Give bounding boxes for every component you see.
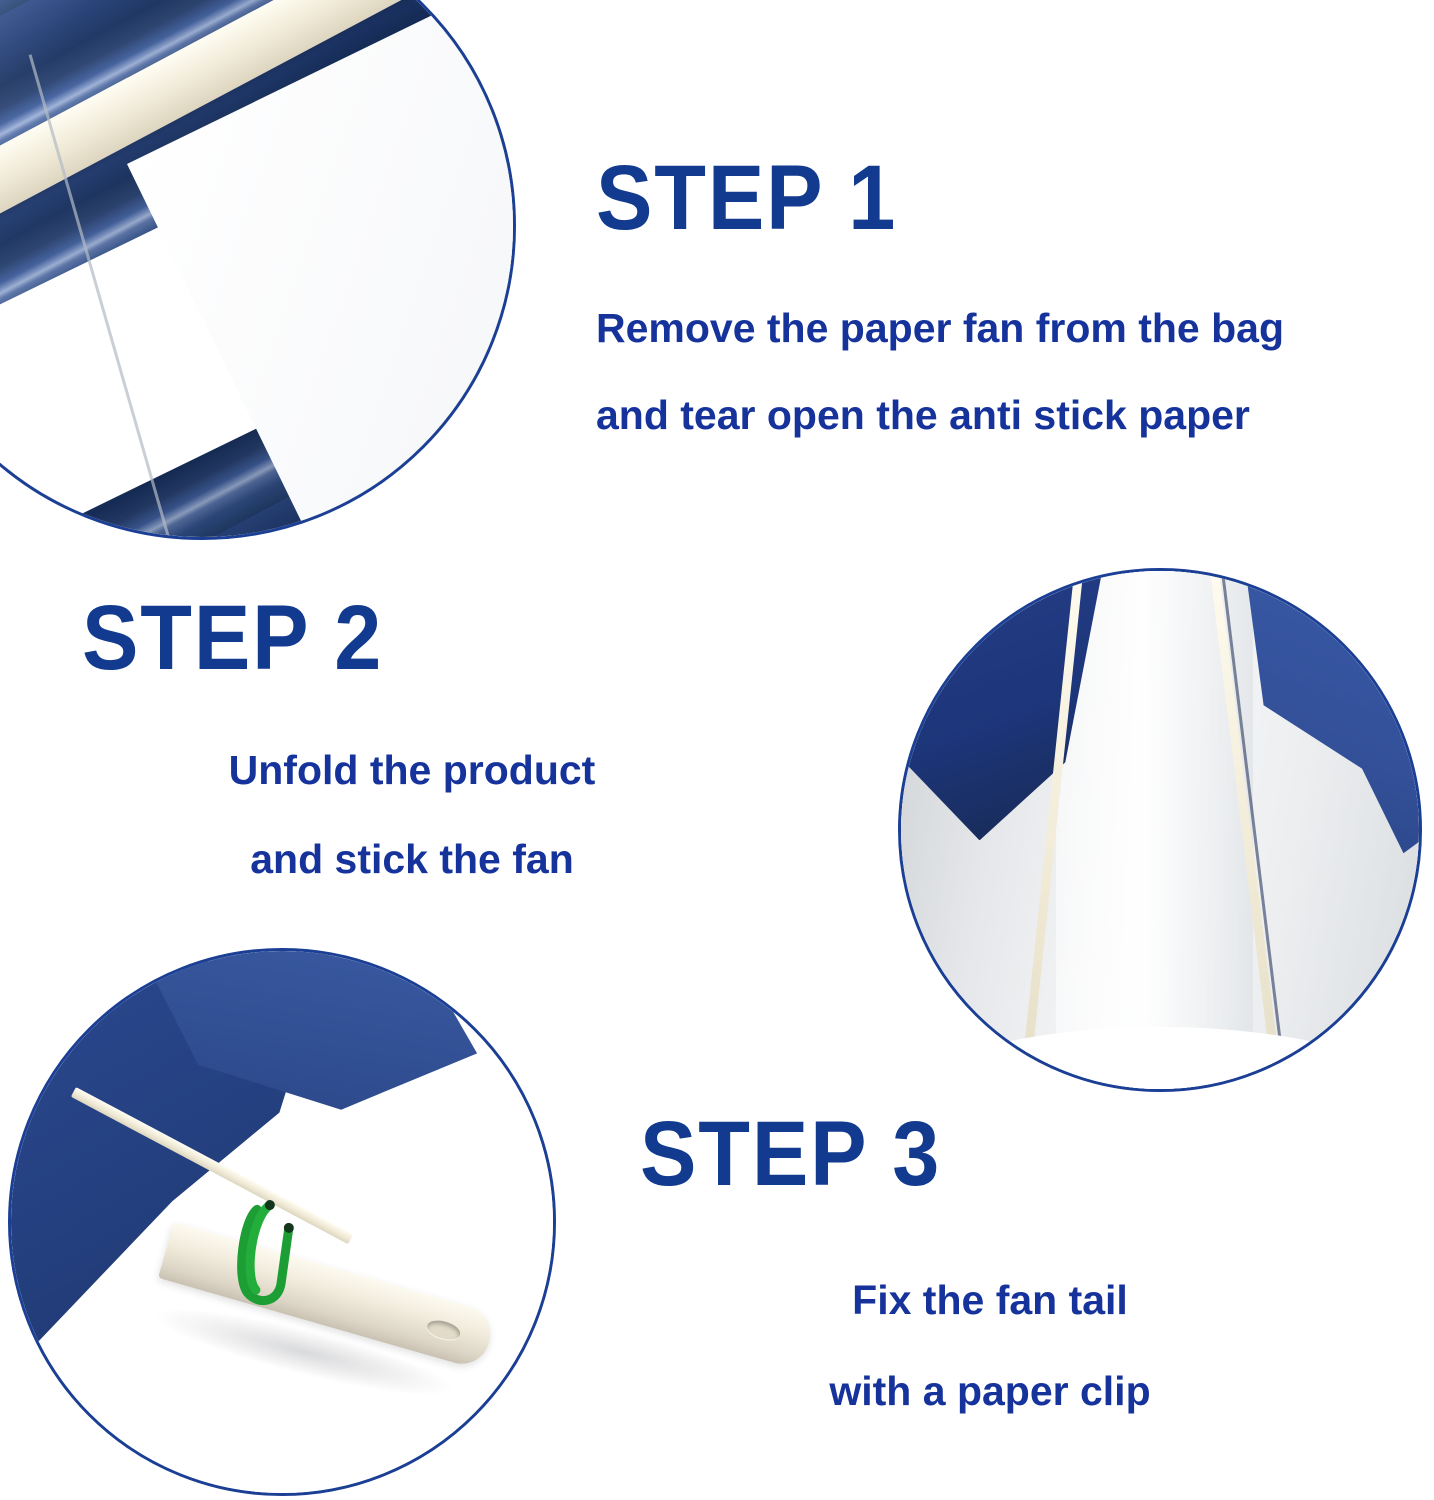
step-2-line-1: Unfold the product xyxy=(82,750,742,791)
step-3-text-block: STEP 3 Fix the fan tail with a paper cli… xyxy=(640,1108,1340,1412)
step-3-title: STEP 3 xyxy=(640,1108,1284,1200)
handle-hole xyxy=(424,1317,461,1343)
step-1-text-block: STEP 1 Remove the paper fan from the bag… xyxy=(596,152,1284,436)
photo-inner-1 xyxy=(0,0,513,537)
step-1-line-2: and tear open the anti stick paper xyxy=(596,395,1284,436)
step-3-line-1: Fix the fan tail xyxy=(640,1280,1340,1321)
paper-clip-fan-tail-photo xyxy=(8,948,556,1496)
folded-pleated-fan-photo xyxy=(0,0,516,540)
step-2-text-block: STEP 2 Unfold the product and stick the … xyxy=(82,592,742,880)
step-2-line-2: and stick the fan xyxy=(82,839,742,880)
step-1-title: STEP 1 xyxy=(596,152,1229,244)
photo-inner-3 xyxy=(11,951,553,1493)
instruction-graphic: STEP 1 Remove the paper fan from the bag… xyxy=(0,0,1434,1500)
photo-inner-2 xyxy=(901,571,1419,1089)
unfolded-fan-photo xyxy=(898,568,1422,1092)
step-3-line-2: with a paper clip xyxy=(640,1371,1340,1412)
step-1-line-1: Remove the paper fan from the bag xyxy=(596,308,1284,349)
step-2-title: STEP 2 xyxy=(82,592,689,684)
